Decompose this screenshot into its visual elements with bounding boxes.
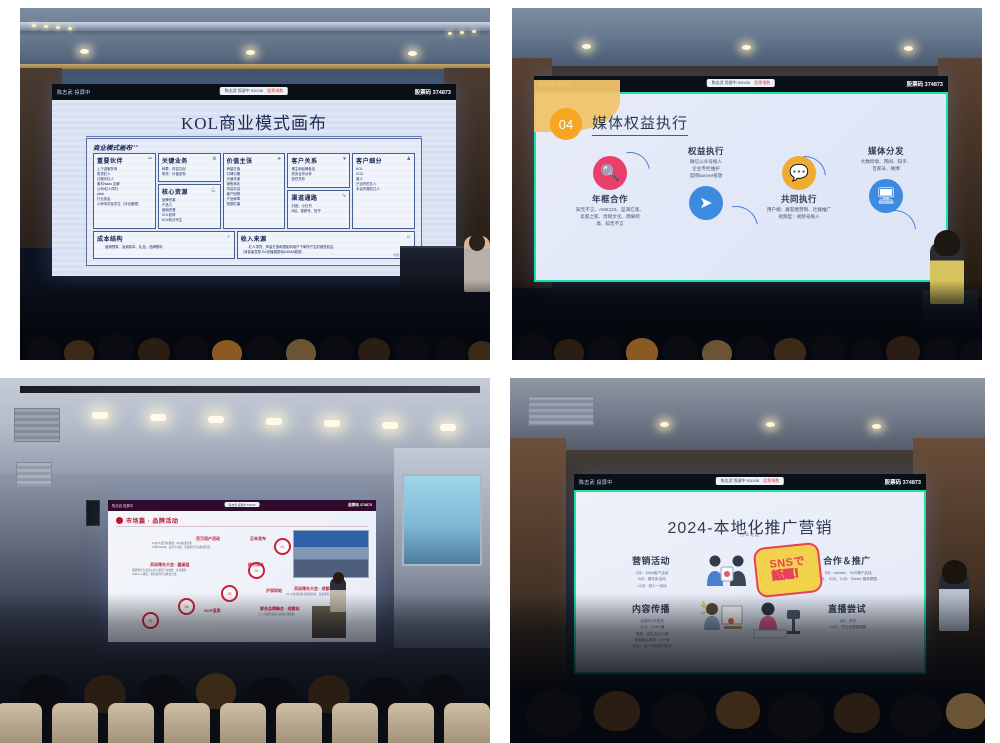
- downlight: [408, 51, 417, 56]
- audience-head: [98, 334, 134, 360]
- canvas-col-relations: ♥ 客户关系 博主和品牌各自 商务合作伙伴 信任关系 ➘ 渠道通路 抖音、小红书…: [287, 153, 350, 229]
- cell-body: 声量打造 口碑引爆 价值传递 销售转化 内容共创 客户回馈 产品种草 短期打磨: [227, 167, 282, 207]
- cell-body: 红人带货、声量打造和提影响用户下单所产生的销售收益 （消费者意愿-SA传播模型和…: [241, 245, 411, 255]
- audience-head: [736, 336, 770, 360]
- ceiling-light: [448, 32, 452, 35]
- ceiling-light: [56, 26, 60, 29]
- channel-icon: ➘: [342, 193, 346, 199]
- audience-head: [212, 340, 242, 360]
- audience-head: [358, 338, 390, 360]
- chair-back: [332, 703, 378, 743]
- search-icon: 🔍: [593, 156, 627, 190]
- cell-body: 品牌资源 产品力 营销资源 KOL矩阵 KOL粉丝写生: [162, 198, 217, 223]
- cell-heading: 客户细分: [356, 156, 411, 165]
- ceiling-lamp: [266, 418, 282, 425]
- audience-head: [626, 338, 658, 360]
- ceiling-lamp: [208, 416, 224, 423]
- node-heading: 媒体分发: [834, 145, 938, 157]
- audience-head: [26, 336, 60, 360]
- audience-head: [554, 339, 584, 360]
- send-icon: ➤: [689, 186, 723, 220]
- canvas-label: 商业模式画布v1.0: [93, 142, 138, 152]
- projection-screen-2: 陈志武 投屏中 股票码 374873 陈志武 投屏中 520/30 股票指数 正…: [534, 76, 948, 282]
- audience-head: [946, 693, 985, 729]
- canvas-frame: 商业模式画布v1.0 ⚯ 重要伙伴 上下游服务商 带货红人 泛娱乐红人 素材/s…: [86, 138, 422, 266]
- step-sub: 围绕增长方法论沙龙与嘉宾产业峰会、企业服务 1100人入场馆、邀请嘉宾行业峰会大…: [132, 569, 244, 577]
- cell-heading: 成本结构: [97, 234, 231, 243]
- presenter-label: 陈志武 投屏中: [57, 89, 91, 96]
- bullet-icon: [116, 517, 123, 524]
- ceiling-lamp: [92, 412, 108, 419]
- slide-title-group: 市场篇 · 品牌活动: [116, 516, 178, 525]
- node-heading: 权益执行: [654, 145, 758, 157]
- anchor-icon: ⚓: [210, 187, 216, 193]
- downlight: [80, 49, 89, 54]
- photo-bottom-right: 陈志武 投屏中 股票码 374873 陈志武 投屏中 520/30 股票指数 正…: [510, 378, 985, 743]
- ceiling-light: [44, 25, 48, 28]
- canvas-cell-customer-segments: ♟ 客户细分 KOL KOC 素人 已合作的达人 未合作潜在达人: [352, 153, 415, 229]
- pill-hot-text: 股票指数: [267, 88, 283, 94]
- pill-text: 陈志武 投屏中 520/30: [712, 80, 750, 86]
- audience-head: [468, 341, 490, 360]
- chair-back: [444, 703, 490, 743]
- photo-top-left: 陈志武 投屏中 股票码 374873 陈志武 投屏中 520/30 股票指数 正…: [20, 8, 490, 360]
- quadrant-body: · 4月：100w用户活动 · 6月：周年庆活动 · 11月：双十一活动: [596, 570, 706, 589]
- node-annual-framework: 🔍 年框合作 知无不言、AMZ123、蓝海亿观、 卖家之家、优假文化、雨果跨 境…: [556, 156, 664, 228]
- quadrant-heading: 营销活动: [596, 554, 706, 567]
- photo-collage: 陈志武 投屏中 股票码 374873 陈志武 投屏中 520/30 股票指数 正…: [0, 0, 1000, 743]
- sns-badge-line2: 話題！: [772, 568, 806, 583]
- audience-head: [588, 336, 622, 360]
- stock-code-label: 股票码 374873: [885, 478, 921, 486]
- downlight: [582, 44, 591, 49]
- ceiling-light: [472, 30, 476, 33]
- node-media-distribution: 媒体分发 大数跨境、邦阅、知乎、 百家号、微博 🖥: [834, 142, 938, 213]
- ceiling-light: [68, 27, 72, 30]
- chair-back: [388, 703, 434, 743]
- slide-kol-canvas: KOL商业模式画布 商业模式画布v1.0 ⚯ 重要伙伴 上下游服务商 带货红人: [52, 100, 456, 276]
- audience-head: [924, 337, 958, 360]
- window: [402, 474, 482, 566]
- chair-back: [276, 703, 322, 743]
- audience-head: [810, 335, 846, 360]
- audience-head: [774, 338, 806, 360]
- cell-heading: 客户关系: [291, 156, 346, 165]
- audience-head: [702, 340, 732, 360]
- audience-head: [850, 338, 882, 360]
- cell-body: KOL KOC 素人 已合作的达人 未合作潜在达人: [356, 167, 411, 192]
- ceiling-light: [460, 31, 464, 34]
- handshake-icon: ♥: [343, 156, 346, 162]
- downlight: [904, 46, 913, 51]
- step-sub: 1Q24大促活动策划、6Q4渠道方案 12月6/12/18、双旦节主题、流量拉升…: [152, 542, 262, 550]
- ceiling-lamp: [440, 424, 456, 431]
- canvas-cell-revenue-streams: ☺ 收入来源 红人带货、声量打造和提影响用户下单所产生的销售收益 （消费者意愿-…: [237, 231, 415, 259]
- step-label: 灵动增长大会 · 圆桌组: [150, 562, 190, 568]
- projection-screen-1: 陈志武 投屏中 股票码 374873 陈志武 投屏中 520/30 股票指数 正…: [52, 84, 456, 276]
- slide-title: 市场篇 · 品牌活动: [126, 516, 178, 525]
- cell-heading: 渠道通路: [291, 193, 346, 202]
- link-icon: ⚯: [148, 156, 152, 162]
- air-vent: [14, 408, 60, 442]
- ceiling-lamp: [150, 414, 166, 421]
- section-number-badge: 04: [550, 108, 582, 140]
- canvas-label-text: 商业模式画布: [93, 145, 132, 152]
- ceiling: [512, 8, 982, 66]
- canvas-cell-value-proposition: ➤ 价值主张 声量打造 口碑引爆 价值传递 销售转化 内容共创 客户回馈 产品种…: [223, 153, 286, 229]
- ceiling-beam: [20, 22, 490, 31]
- node-body: 微信公众号植入 企业专栏维护 官网banner投放: [654, 159, 758, 180]
- chair-back: [164, 703, 210, 743]
- audience-head: [286, 339, 316, 360]
- screen-body: 04 媒体权益执行 🔍 年框合作 知无不言、AMZ123、蓝海亿观、 卖家之家、…: [534, 92, 948, 282]
- step-label: 正本发布: [250, 536, 266, 542]
- node-heading: 年框合作: [556, 193, 664, 205]
- screen-control-panel[interactable]: [339, 512, 373, 524]
- screen-share-pill: 陈志武 投屏中 520/30 股票指数: [707, 79, 775, 87]
- arrow-icon: ➤: [277, 156, 281, 162]
- screen-body: KOL商业模式画布 商业模式画布v1.0 ⚯ 重要伙伴 上下游服务商 带货红人: [52, 100, 456, 276]
- canvas-col-activities: ⚙ 关键业务 种草：内容共创 带货：价值变现 ⚓ 核心资源 品牌资源 产品力 营…: [158, 153, 221, 229]
- stock-code-label: 股票码 374873: [415, 88, 451, 96]
- canvas-grid: ⚯ 重要伙伴 上下游服务商 带货红人 泛娱乐红人 素材/saas 见解 公司/红…: [93, 153, 415, 259]
- audience-head: [834, 693, 880, 733]
- canvas-bottom-row: ✓ 成本结构 营销预算、返佣成本、礼品、品牌物料 ☺ 收入来源 红人带货、声量打…: [93, 231, 415, 259]
- air-vent: [528, 396, 594, 426]
- canvas-cell-key-activities: ⚙ 关键业务 种草：内容共创 带货：价值变现: [158, 153, 221, 182]
- sns-topic-badge: SNSで 話題！: [758, 547, 818, 593]
- stock-code-label: 股票码 374873: [348, 503, 372, 508]
- audience-head: [434, 336, 468, 360]
- ceiling-strip: [20, 386, 480, 393]
- audience-head: [246, 335, 282, 360]
- pill-hot-text: 股票指数: [754, 80, 770, 86]
- stock-code-label: 股票码 374873: [907, 80, 943, 88]
- audience-head: [662, 335, 698, 360]
- ceiling-lamp: [382, 422, 398, 429]
- people-icon: ♟: [407, 156, 411, 162]
- two-people-sharing-phone-icon: [704, 554, 750, 586]
- audience-silhouettes: [512, 280, 982, 360]
- canvas-cell-channels: ➘ 渠道通路 抖音、小红书 B站、视频号、知乎: [287, 190, 350, 229]
- ceiling-cove-light: [20, 64, 490, 69]
- air-vent: [16, 462, 52, 488]
- chair-back: [108, 703, 154, 743]
- canvas-top-row: ⚯ 重要伙伴 上下游服务商 带货红人 泛娱乐红人 素材/saas 见解 公司/红…: [93, 153, 415, 229]
- photo-bottom-left: 陈志武 投屏中 股票码 374873 陈志武 投屏中 520/30 市场篇 · …: [0, 378, 490, 743]
- step-label: 终节试水: [248, 562, 264, 568]
- audience-head: [886, 336, 920, 360]
- pill-text: 陈志武 投屏中 520/30: [721, 478, 759, 484]
- screen-share-pill: 陈志武 投屏中 520/30 股票指数: [220, 87, 288, 95]
- canvas-label-version: v1.0: [132, 144, 138, 148]
- audience-and-chairs: [0, 593, 490, 743]
- step-label: 灵动增长大会 · 成都站: [294, 586, 334, 592]
- pill-hot-text: 股票指数: [763, 478, 779, 484]
- audience-head: [64, 340, 94, 360]
- node-body: 知无不言、AMZ123、蓝海亿观、 卖家之家、优假文化、雨果跨 境、知无不言: [556, 207, 664, 228]
- cell-heading: 重要伙伴: [97, 156, 152, 165]
- ceiling-light: [32, 24, 36, 27]
- audience-head: [394, 335, 430, 360]
- audience-head: [890, 693, 942, 737]
- quadrant-marketing-activities: 营销活动 · 4月：100w用户活动 · 6月：周年庆活动 · 11月：双十一活…: [596, 554, 706, 589]
- cell-heading: 核心资源: [162, 187, 217, 196]
- audience-silhouettes: [20, 280, 490, 360]
- check-icon: ✓: [226, 234, 230, 240]
- crowd-photo-thumbnail: [293, 530, 369, 578]
- audience-head: [768, 693, 824, 741]
- cell-heading: 收入来源: [241, 234, 411, 243]
- node-rights-execution: 权益执行 微信公众号植入 企业专栏维护 官网banner投放 ➤: [654, 142, 758, 220]
- canvas-cell-partners: ⚯ 重要伙伴 上下游服务商 带货红人 泛娱乐红人 素材/saas 见解 公司/红…: [93, 153, 156, 229]
- audience-head: [320, 336, 354, 360]
- canvas-cell-key-resources: ⚓ 核心资源 品牌资源 产品力 营销资源 KOL矩阵 KOL粉丝写生: [158, 184, 221, 229]
- audience-head: [594, 691, 640, 731]
- chair-back: [52, 703, 98, 743]
- pill-text: 陈志武 投屏中 520/30: [225, 88, 263, 94]
- gear-icon: ⚙: [212, 156, 216, 162]
- chair-back: [0, 703, 42, 743]
- audience-head: [174, 336, 208, 360]
- screen-share-pill: 陈志武 投屏中 520/30 股票指数: [716, 477, 784, 485]
- audience-head: [526, 689, 582, 737]
- ceiling: [20, 8, 490, 74]
- downlight: [766, 422, 775, 427]
- slide-media-rights: 04 媒体权益执行 🔍 年框合作 知无不言、AMZ123、蓝海亿观、 卖家之家、…: [534, 92, 948, 282]
- node-body: 大数跨境、邦阅、知乎、 百家号、微博: [834, 159, 938, 173]
- presenter-label: 陈志武 投屏中: [579, 479, 613, 486]
- ceiling-lamp: [324, 420, 340, 427]
- cell-body: 种草：内容共创 带货：价值变现: [162, 167, 217, 177]
- screen-share-pill: 陈志武 投屏中 520/30: [225, 502, 260, 507]
- cell-body: 上下游服务商 带货红人 泛娱乐红人 素材/saas 见解 公司/红人同行 pit…: [97, 167, 152, 207]
- cell-body: 博主和品牌各自 商务合作伙伴 信任关系: [291, 167, 346, 182]
- downlight: [660, 422, 669, 427]
- canvas-cell-cost-structure: ✓ 成本结构 营销预算、返佣成本、礼品、品牌物料: [93, 231, 235, 259]
- cell-heading: 关键业务: [162, 156, 217, 165]
- cell-body: 抖音、小红书 B站、视频号、知乎: [291, 204, 346, 214]
- downlight: [742, 45, 751, 50]
- cell-body: 营销预算、返佣成本、礼品、品牌物料: [97, 245, 231, 250]
- chair-back: [220, 703, 266, 743]
- audience-head: [516, 334, 552, 360]
- audience-head: [716, 691, 760, 729]
- downlight: [872, 424, 881, 429]
- audience-silhouettes: [510, 593, 985, 743]
- slide-title: KOL商业模式画布: [52, 109, 456, 134]
- downlight: [246, 50, 255, 55]
- slide-subtitle: 日本地区: [576, 532, 924, 538]
- slide-title: 媒体权益执行: [592, 112, 688, 136]
- canvas-cell-customer-relations: ♥ 客户关系 博主和品牌各自 商务合作伙伴 信任关系: [287, 153, 350, 188]
- step-ring: 01: [274, 538, 291, 555]
- audience-head: [138, 338, 170, 360]
- loudspeaker: [86, 500, 100, 526]
- audience-head: [960, 341, 982, 360]
- photo-top-right: 陈志武 投屏中 股票码 374873 陈志武 投屏中 520/30 股票指数 正…: [512, 8, 982, 360]
- title-divider: [116, 526, 368, 527]
- chat-icon: 💬: [782, 156, 816, 190]
- title-divider: [86, 136, 422, 137]
- cell-heading: 价值主张: [227, 156, 282, 165]
- audience-head: [652, 693, 706, 739]
- monitor-icon: 🖥: [869, 179, 903, 213]
- presenter-label: 陈志武 投屏中: [112, 503, 133, 508]
- coin-icon: ☺: [406, 234, 411, 240]
